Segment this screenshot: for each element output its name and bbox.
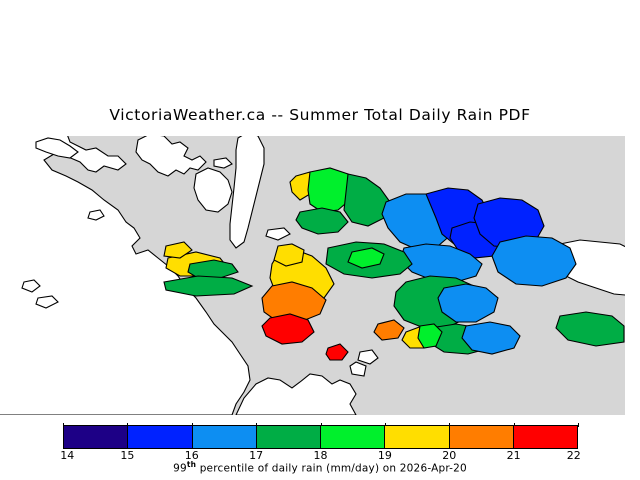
colorbar-wrapper [63, 425, 578, 449]
caption-prefix: 99 [173, 463, 187, 475]
colorbar-band-21-22 [514, 426, 577, 448]
colorbar-band-20-21 [450, 426, 514, 448]
region-southeast-strip-blue [462, 322, 520, 354]
colorbar-band-14-15 [64, 426, 128, 448]
colorbar-band-15-16 [128, 426, 192, 448]
caption-superscript: th [187, 460, 196, 469]
region-central-islet-green-a [296, 208, 348, 234]
caption-suffix: percentile of daily rain (mm/day) on 202… [196, 463, 467, 475]
island-northwest-lower [194, 168, 232, 212]
colorbar-band-19-20 [385, 426, 449, 448]
region-saanich-yellow-lobe [274, 244, 304, 266]
colorbar-caption: 99th percentile of daily rain (mm/day) o… [0, 460, 640, 475]
weather-map-figure: VictoriaWeather.ca -- Summer Total Daily… [0, 0, 640, 480]
island-cluster-northwest [136, 136, 206, 176]
map-panel [0, 136, 625, 415]
colorbar-tick-22 [578, 423, 579, 427]
map-canvas [0, 136, 625, 415]
region-islet-orange [374, 320, 404, 340]
mainland-south [236, 374, 356, 415]
colorbar-band-18-19 [321, 426, 385, 448]
islet-south-a [358, 350, 378, 364]
region-sliver-green-a [188, 260, 238, 278]
colorbar-band-16-17 [193, 426, 257, 448]
islet-sliver-b [266, 228, 290, 240]
colorbar [63, 425, 578, 449]
region-east-green-wedge [556, 312, 624, 346]
islet-south-b [350, 362, 366, 376]
colorbar-band-17-18 [257, 426, 321, 448]
islet-sliver-a [214, 158, 232, 168]
figure-title: VictoriaWeather.ca -- Summer Total Daily… [0, 106, 640, 124]
region-gulf-islands-green-dark [344, 174, 390, 226]
region-discovery-island-red [326, 344, 348, 360]
long-island-centre [230, 136, 264, 248]
